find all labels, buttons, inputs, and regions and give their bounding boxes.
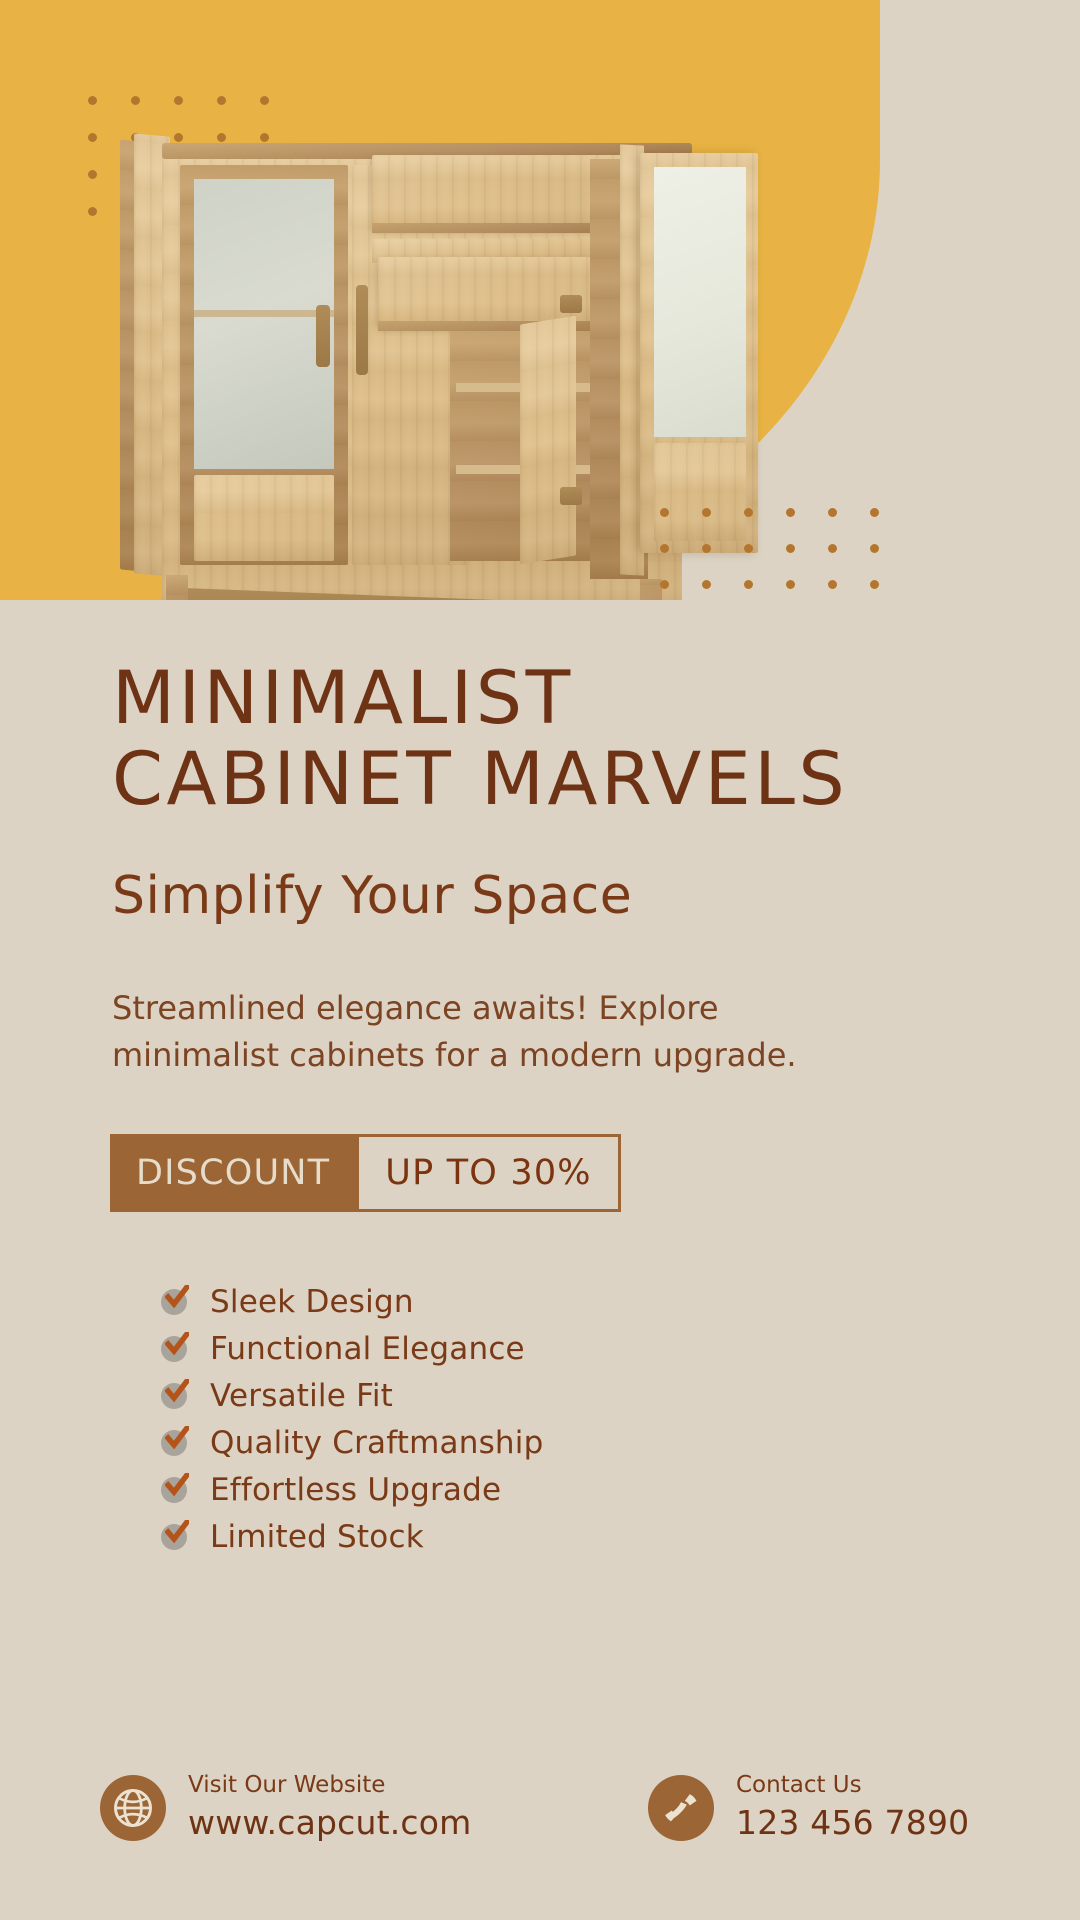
cabinet-glass-door-lower-panel: [194, 475, 334, 561]
contact-phone-caption: Contact Us: [736, 1770, 969, 1801]
contact-phone-text: Contact Us 123 456 7890: [736, 1770, 969, 1846]
body-copy: Streamlined elegance awaits! Explore min…: [0, 925, 812, 1078]
dot: [870, 544, 879, 553]
phone-icon: [648, 1775, 714, 1841]
feature-label: Versatile Fit: [210, 1378, 393, 1414]
discount-value: UP TO 30%: [356, 1134, 621, 1212]
dot-grid-bottom-right: [660, 508, 879, 600]
body-copy-line-2: minimalist cabinets for a modern upgrade…: [112, 1032, 812, 1078]
dot: [131, 96, 140, 105]
dot: [828, 580, 837, 589]
cabinet-handle-middle: [356, 285, 368, 375]
feature-label: Sleek Design: [210, 1284, 414, 1320]
hero-section: [0, 0, 1080, 600]
dot: [744, 508, 753, 517]
dot: [786, 580, 795, 589]
dot: [786, 508, 795, 517]
body-copy-line-1: Streamlined elegance awaits! Explore: [112, 985, 812, 1031]
list-item: Sleek Design: [160, 1284, 1080, 1320]
dot: [174, 96, 183, 105]
check-circle-icon: [160, 1428, 190, 1458]
content-section: MINIMALIST CABINET MARVELS Simplify Your…: [0, 600, 1080, 1566]
dot: [88, 133, 97, 142]
dot: [260, 96, 269, 105]
headline-line-2: CABINET MARVELS: [112, 739, 1080, 820]
cabinet-glass-pane: [194, 179, 334, 469]
dot: [870, 508, 879, 517]
promo-poster: MINIMALIST CABINET MARVELS Simplify Your…: [0, 0, 1080, 1920]
contact-website-value[interactable]: www.capcut.com: [188, 1801, 472, 1846]
dot: [660, 580, 669, 589]
dot: [828, 544, 837, 553]
list-item: Effortless Upgrade: [160, 1472, 1080, 1508]
dot: [786, 544, 795, 553]
dot: [88, 207, 97, 216]
check-circle-icon: [160, 1475, 190, 1505]
feature-label: Effortless Upgrade: [210, 1472, 501, 1508]
check-circle-icon: [160, 1522, 190, 1552]
dot: [217, 96, 226, 105]
cabinet-inner-open-door: [520, 316, 576, 565]
contact-website-text: Visit Our Website www.capcut.com: [188, 1770, 472, 1846]
check-circle-icon: [160, 1381, 190, 1411]
dot: [88, 170, 97, 179]
discount-badge[interactable]: DISCOUNT UP TO 30%: [110, 1134, 621, 1212]
cabinet-foot-left: [166, 575, 188, 600]
cabinet-hinge-upper: [560, 295, 582, 313]
dot: [702, 544, 711, 553]
dot: [88, 96, 97, 105]
feature-list: Sleek Design Functional Elegance Versati…: [0, 1212, 1080, 1555]
list-item: Versatile Fit: [160, 1378, 1080, 1414]
discount-label: DISCOUNT: [110, 1134, 356, 1212]
globe-icon: [100, 1775, 166, 1841]
dot: [702, 580, 711, 589]
feature-label: Functional Elegance: [210, 1331, 525, 1367]
cabinet-mirror-pane: [654, 167, 746, 437]
contact-phone[interactable]: Contact Us 123 456 7890: [648, 1770, 969, 1846]
dot: [828, 508, 837, 517]
subheading: Simplify Your Space: [0, 820, 1080, 925]
dot: [660, 508, 669, 517]
cabinet-hinge-lower: [560, 487, 582, 505]
footer-contact-bar: Visit Our Website www.capcut.com Contact…: [0, 1760, 1080, 1920]
contact-website-caption: Visit Our Website: [188, 1770, 472, 1801]
list-item: Quality Craftmanship: [160, 1425, 1080, 1461]
dot: [702, 508, 711, 517]
cabinet-inner-shelf: [194, 310, 334, 317]
cabinet-foot-right: [640, 579, 662, 600]
cabinet-handle-left: [316, 305, 330, 367]
dot: [744, 580, 753, 589]
contact-website[interactable]: Visit Our Website www.capcut.com: [100, 1770, 472, 1846]
check-circle-icon: [160, 1287, 190, 1317]
dot: [660, 544, 669, 553]
feature-label: Limited Stock: [210, 1519, 424, 1555]
contact-phone-value[interactable]: 123 456 7890: [736, 1801, 969, 1846]
check-circle-icon: [160, 1334, 190, 1364]
dot: [744, 544, 753, 553]
headline-line-1: MINIMALIST: [112, 658, 1080, 739]
list-item: Functional Elegance: [160, 1331, 1080, 1367]
dot: [870, 580, 879, 589]
list-item: Limited Stock: [160, 1519, 1080, 1555]
page-title: MINIMALIST CABINET MARVELS: [0, 658, 1080, 820]
feature-label: Quality Craftmanship: [210, 1425, 543, 1461]
